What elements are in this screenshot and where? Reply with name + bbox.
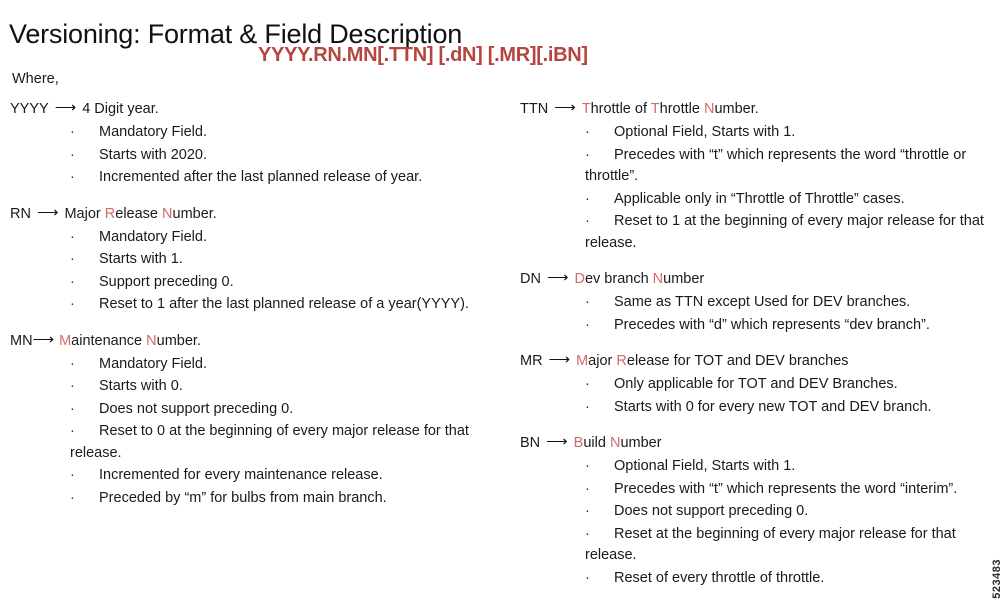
bullet-text: Starts with 0 for every new TOT and DEV … — [585, 397, 998, 419]
bullet-item: ·Mandatory Field. — [70, 354, 510, 376]
bullet-dot-icon: · — [70, 227, 75, 249]
bullet-dot-icon: · — [585, 568, 590, 590]
bullet-item: ·Mandatory Field. — [70, 227, 510, 249]
bullet-list: ·Same as TTN except Used for DEV branche… — [520, 292, 998, 336]
field-name-part: r — [96, 206, 105, 222]
field-name-part: umber — [663, 271, 704, 287]
field-name-part: umber. — [714, 101, 758, 117]
bullet-text: Precedes with “d” which represents “dev … — [585, 315, 998, 337]
bullet-dot-icon: · — [70, 122, 75, 144]
field-name-part: aintenance — [71, 333, 146, 349]
field-name-part: elease — [115, 206, 162, 222]
bullet-list: ·Only applicable for TOT and DEV Branche… — [520, 374, 998, 418]
bullet-item: ·Precedes with “t” which represents the … — [585, 145, 998, 188]
bullet-dot-icon: · — [70, 167, 75, 189]
field-name-initial: T — [651, 101, 660, 117]
bullet-item: ·Starts with 1. — [70, 249, 510, 271]
field-block-yyyy: YYYY⟶4 Digit year.·Mandatory Field.·Star… — [10, 98, 510, 189]
field-abbr: MN — [10, 331, 33, 352]
bullet-item: ·Incremented for every maintenance relea… — [70, 465, 510, 487]
bullet-text: Precedes with “t” which represents the w… — [585, 145, 998, 188]
bullet-item: ·Reset to 1 after the last planned relea… — [70, 294, 510, 316]
field-name-initial: N — [704, 101, 714, 117]
bullet-dot-icon: · — [70, 145, 75, 167]
bullet-dot-icon: · — [585, 292, 590, 314]
field-block-mn: MN⟶Maintenance Number.·Mandatory Field.·… — [10, 330, 510, 510]
bullet-text: Starts with 1. — [70, 249, 510, 271]
bullet-text: Does not support preceding 0. — [70, 399, 510, 421]
bullet-list: ·Mandatory Field.·Starts with 2020.·Incr… — [10, 122, 510, 189]
bullet-item: ·Does not support preceding 0. — [70, 399, 510, 421]
bullet-text: Preceded by “m” for bulbs from main bran… — [70, 488, 510, 510]
field-name-part: uild — [583, 435, 610, 451]
field-name-initial: N — [653, 271, 663, 287]
bullet-text: Incremented after the last planned relea… — [70, 167, 510, 189]
bullet-list: ·Optional Field, Starts with 1.·Precedes… — [520, 456, 998, 589]
bullet-item: ·Preceded by “m” for bulbs from main bra… — [70, 488, 510, 510]
field-name-part: hrottle — [660, 101, 704, 117]
bullet-dot-icon: · — [585, 524, 590, 546]
bullet-text: Mandatory Field. — [70, 122, 510, 144]
field-name-initial: N — [162, 206, 172, 222]
bullet-dot-icon: · — [585, 456, 590, 478]
bullet-dot-icon: · — [585, 145, 590, 167]
bullet-dot-icon: · — [585, 397, 590, 419]
field-name: Major Release for TOT and DEV branches — [576, 351, 848, 372]
bullet-item: ·Starts with 2020. — [70, 145, 510, 167]
bullet-item: ·Incremented after the last planned rele… — [70, 167, 510, 189]
bullet-text: Incremented for every maintenance releas… — [70, 465, 510, 487]
bullet-text: Reset to 1 after the last planned releas… — [70, 294, 510, 316]
field-head: MN⟶Maintenance Number. — [10, 330, 510, 352]
bullet-text: Starts with 2020. — [70, 145, 510, 167]
bullet-dot-icon: · — [585, 189, 590, 211]
field-head: YYYY⟶4 Digit year. — [10, 98, 510, 120]
bullet-dot-icon: · — [585, 501, 590, 523]
bullet-text: Optional Field, Starts with 1. — [585, 122, 998, 144]
field-name: Build Number — [574, 433, 662, 454]
arrow-right-icon: ⟶ — [548, 97, 582, 118]
field-head: BN⟶Build Number — [520, 432, 998, 454]
bullet-text: Mandatory Field. — [70, 227, 510, 249]
figure-number: 523483 — [991, 559, 1003, 599]
field-name: Dev branch Number — [574, 269, 704, 290]
bullet-item: ·Precedes with “t” which represents the … — [585, 479, 998, 501]
field-name: 4 Digit year. — [82, 99, 159, 120]
field-name: Major Release Number. — [64, 204, 216, 225]
field-name-part: ajor — [588, 353, 616, 369]
bullet-item: ·Optional Field, Starts with 1. — [585, 122, 998, 144]
bullet-dot-icon: · — [70, 488, 75, 510]
field-head: MR⟶Major Release for TOT and DEV branche… — [520, 350, 998, 372]
right-column: TTN⟶Throttle of Throttle Number.·Optiona… — [520, 98, 998, 590]
bullet-dot-icon: · — [70, 249, 75, 271]
field-name-part: umber — [620, 435, 661, 451]
bullet-text: Same as TTN except Used for DEV branches… — [585, 292, 998, 314]
field-head: RN⟶Major Release Number. — [10, 203, 510, 225]
field-abbr: TTN — [520, 99, 548, 120]
field-block-bn: BN⟶Build Number·Optional Field, Starts w… — [520, 432, 998, 589]
version-format-string: YYYY.RN.MN[.TTN] [.dN] [.MR][.iBN] — [258, 44, 588, 67]
field-name-initial: D — [574, 271, 584, 287]
bullet-list: ·Mandatory Field.·Starts with 0.·Does no… — [10, 354, 510, 510]
bullet-item: ·Support preceding 0. — [70, 272, 510, 294]
bullet-text: Only applicable for TOT and DEV Branches… — [585, 374, 998, 396]
field-abbr: MR — [520, 351, 543, 372]
arrow-right-icon: ⟶ — [31, 202, 65, 223]
field-block-dn: DN⟶Dev branch Number·Same as TTN except … — [520, 268, 998, 336]
bullet-item: ·Starts with 0 for every new TOT and DEV… — [585, 397, 998, 419]
bullet-item: ·Mandatory Field. — [70, 122, 510, 144]
where-label: Where, — [12, 71, 59, 87]
bullet-list: ·Mandatory Field.·Starts with 1.·Support… — [10, 227, 510, 316]
bullet-dot-icon: · — [70, 354, 75, 376]
field-name-initial: B — [574, 435, 584, 451]
bullet-text: Reset to 0 at the beginning of every maj… — [70, 421, 510, 464]
field-abbr: RN — [10, 204, 31, 225]
bullet-item: ·Reset at the beginning of every major r… — [585, 524, 998, 567]
bullet-item: ·Applicable only in “Throttle of Throttl… — [585, 189, 998, 211]
field-abbr: YYYY — [10, 99, 49, 120]
bullet-item: ·Same as TTN except Used for DEV branche… — [585, 292, 998, 314]
field-head: DN⟶Dev branch Number — [520, 268, 998, 290]
bullet-dot-icon: · — [70, 421, 75, 443]
bullet-text: Does not support preceding 0. — [585, 501, 998, 523]
bullet-item: ·Only applicable for TOT and DEV Branche… — [585, 374, 998, 396]
bullet-item: ·Does not support preceding 0. — [585, 501, 998, 523]
field-abbr: BN — [520, 433, 540, 454]
bullet-dot-icon: · — [70, 272, 75, 294]
arrow-right-icon: ⟶ — [33, 329, 60, 350]
field-name-initial: M — [576, 353, 588, 369]
field-name: Throttle of Throttle Number. — [582, 99, 759, 120]
bullet-list: ·Optional Field, Starts with 1.·Precedes… — [520, 122, 998, 254]
bullet-text: Support preceding 0. — [70, 272, 510, 294]
arrow-right-icon: ⟶ — [541, 267, 575, 288]
bullet-dot-icon: · — [70, 294, 75, 316]
field-name-part: hrottle of — [591, 101, 651, 117]
field-name-initial: M — [59, 333, 71, 349]
field-block-ttn: TTN⟶Throttle of Throttle Number.·Optiona… — [520, 98, 998, 254]
field-name-initial: N — [610, 435, 620, 451]
field-name-part: 4 Digit year. — [82, 101, 159, 117]
bullet-dot-icon: · — [585, 315, 590, 337]
bullet-text: Precedes with “t” which represents the w… — [585, 479, 998, 501]
bullet-dot-icon: · — [70, 376, 75, 398]
arrow-right-icon: ⟶ — [49, 97, 83, 118]
field-block-mr: MR⟶Major Release for TOT and DEV branche… — [520, 350, 998, 418]
bullet-text: Reset of every throttle of throttle. — [585, 568, 998, 590]
arrow-right-icon: ⟶ — [540, 431, 574, 452]
field-name-part: Majo — [64, 206, 95, 222]
bullet-item: ·Precedes with “d” which represents “dev… — [585, 315, 998, 337]
bullet-item: ·Reset of every throttle of throttle. — [585, 568, 998, 590]
bullet-item: ·Optional Field, Starts with 1. — [585, 456, 998, 478]
bullet-text: Optional Field, Starts with 1. — [585, 456, 998, 478]
bullet-dot-icon: · — [585, 122, 590, 144]
field-name-part: ev branch — [585, 271, 653, 287]
field-name-initial: N — [146, 333, 156, 349]
bullet-dot-icon: · — [70, 399, 75, 421]
bullet-text: Applicable only in “Throttle of Throttle… — [585, 189, 998, 211]
arrow-right-icon: ⟶ — [543, 349, 577, 370]
field-name-part: umber. — [157, 333, 201, 349]
bullet-text: Reset at the beginning of every major re… — [585, 524, 998, 567]
field-name-initial: T — [582, 101, 591, 117]
field-name-initial: R — [616, 353, 626, 369]
field-name-part: elease for TOT and DEV branches — [627, 353, 849, 369]
field-abbr: DN — [520, 269, 541, 290]
bullet-item: ·Reset to 0 at the beginning of every ma… — [70, 421, 510, 464]
field-block-rn: RN⟶Major Release Number.·Mandatory Field… — [10, 203, 510, 316]
bullet-item: ·Reset to 1 at the beginning of every ma… — [585, 211, 998, 254]
field-head: TTN⟶Throttle of Throttle Number. — [520, 98, 998, 120]
bullet-text: Reset to 1 at the beginning of every maj… — [585, 211, 998, 254]
field-name: Maintenance Number. — [59, 331, 201, 352]
bullet-dot-icon: · — [585, 374, 590, 396]
bullet-dot-icon: · — [585, 479, 590, 501]
bullet-item: ·Starts with 0. — [70, 376, 510, 398]
bullet-text: Mandatory Field. — [70, 354, 510, 376]
bullet-dot-icon: · — [585, 211, 590, 233]
field-name-initial: R — [105, 206, 115, 222]
bullet-dot-icon: · — [70, 465, 75, 487]
field-name-part: umber. — [173, 206, 217, 222]
left-column: YYYY⟶4 Digit year.·Mandatory Field.·Star… — [10, 98, 510, 510]
bullet-text: Starts with 0. — [70, 376, 510, 398]
